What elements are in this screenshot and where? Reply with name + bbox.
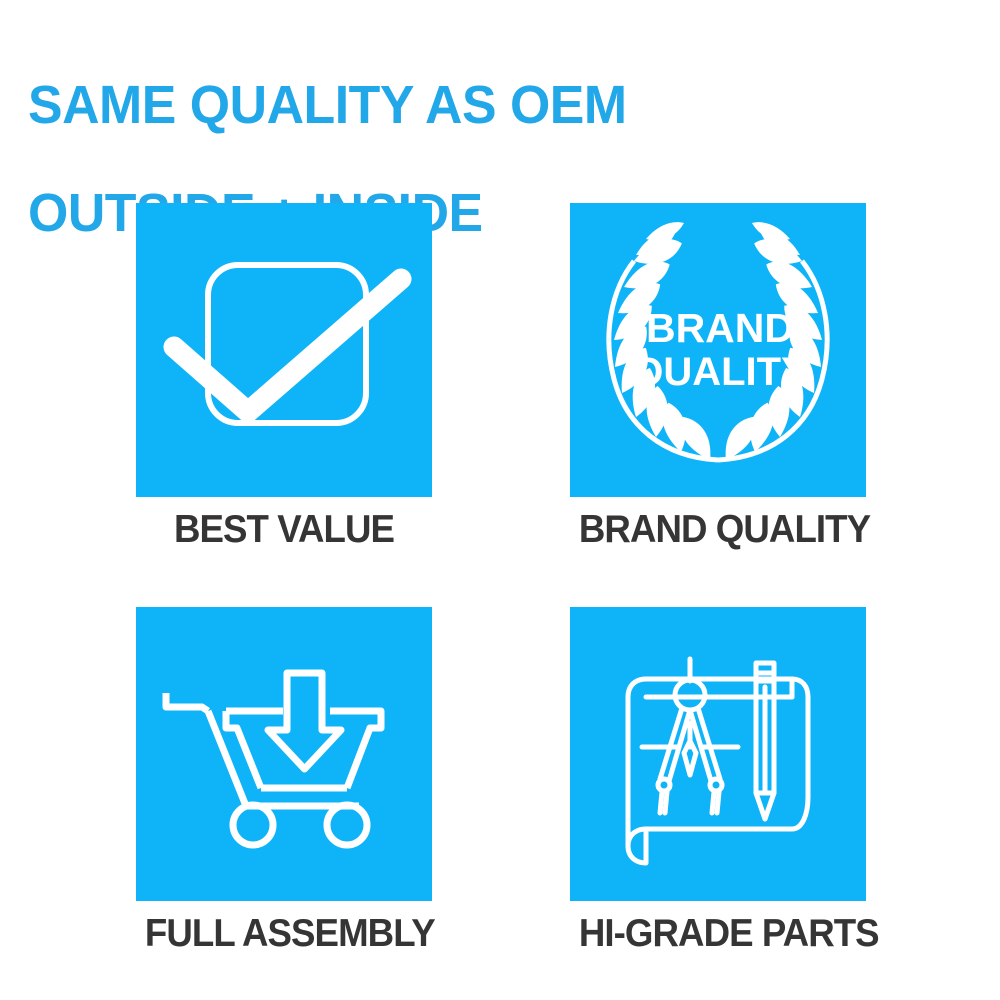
infographic-page: SAME QUALITY AS OEM OUTSIDE + INSIDE BES… xyxy=(0,0,1000,1000)
feature-card-full-assembly[interactable]: FULL ASSEMBLY xyxy=(136,607,432,957)
shopping-cart-download-icon xyxy=(136,607,432,901)
page-title-line-1: SAME QUALITY AS OEM xyxy=(28,78,892,132)
feature-card-best-value[interactable]: BEST VALUE xyxy=(136,203,432,553)
feature-grid: BEST VALUE xyxy=(136,203,866,903)
feature-label-brand-quality: BRAND QUALITY xyxy=(579,507,857,553)
laurel-wreath-icon xyxy=(570,203,866,497)
feature-card-brand-quality[interactable]: BRAND QUALITY BRAND QUALITY xyxy=(570,203,866,553)
feature-tile-hi-grade-parts xyxy=(570,607,866,901)
feature-tile-best-value xyxy=(136,203,432,497)
feature-label-best-value: BEST VALUE xyxy=(145,507,423,553)
feature-tile-brand-quality: BRAND QUALITY xyxy=(570,203,866,497)
feature-label-full-assembly: FULL ASSEMBLY xyxy=(145,911,423,957)
feature-tile-full-assembly xyxy=(136,607,432,901)
blueprint-compass-pencil-icon xyxy=(570,607,866,901)
checkbox-check-icon xyxy=(136,203,432,497)
feature-label-hi-grade-parts: HI-GRADE PARTS xyxy=(579,911,857,957)
feature-card-hi-grade-parts[interactable]: HI-GRADE PARTS xyxy=(570,607,866,957)
